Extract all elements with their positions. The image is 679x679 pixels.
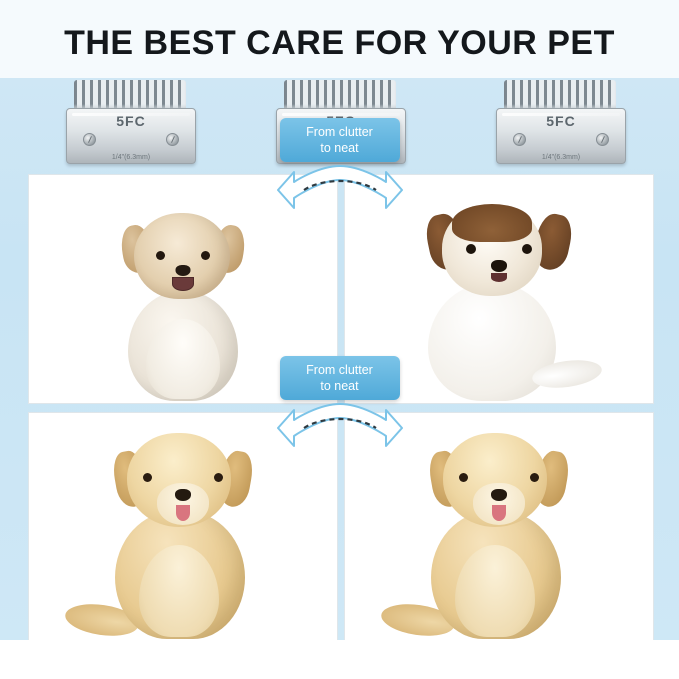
- blade-size-sub: 1/4"(6.3mm): [497, 154, 625, 161]
- badge-line-2: to neat: [320, 141, 358, 155]
- blade-screw-right-icon: [166, 133, 179, 146]
- blade-screw-left-icon: [513, 133, 526, 146]
- clipper-blade-left: 5FC 1/4"(6.3mm): [60, 78, 200, 174]
- blade-body: 5FC 1/4"(6.3mm): [66, 108, 196, 164]
- bottom-white-band: [0, 640, 679, 679]
- curved-arrow-icon: [274, 164, 406, 222]
- badge-from-clutter-to-neat: From clutter to neat: [280, 118, 400, 162]
- blade-size-label: 5FC: [67, 113, 195, 129]
- blade-screw-left-icon: [83, 133, 96, 146]
- badge-from-clutter-to-neat: From clutter to neat: [280, 356, 400, 400]
- curved-arrow-icon: [274, 402, 406, 460]
- badge-line-1: From clutter: [306, 363, 373, 377]
- blade-body: 5FC 1/4"(6.3mm): [496, 108, 626, 164]
- blade-size-sub: 1/4"(6.3mm): [67, 154, 195, 161]
- page-title: THE BEST CARE FOR YOUR PET: [0, 24, 679, 63]
- blade-size-label: 5FC: [497, 113, 625, 129]
- blade-screw-right-icon: [596, 133, 609, 146]
- transition-top: From clutter to neat: [250, 118, 430, 228]
- transition-bottom: From clutter to neat: [250, 356, 430, 466]
- product-infographic: THE BEST CARE FOR YOUR PET 5FC 1/4"(6.3m…: [0, 0, 679, 679]
- clipper-blade-right: 5FC 1/4"(6.3mm): [490, 78, 630, 174]
- badge-line-2: to neat: [320, 379, 358, 393]
- badge-line-1: From clutter: [306, 125, 373, 139]
